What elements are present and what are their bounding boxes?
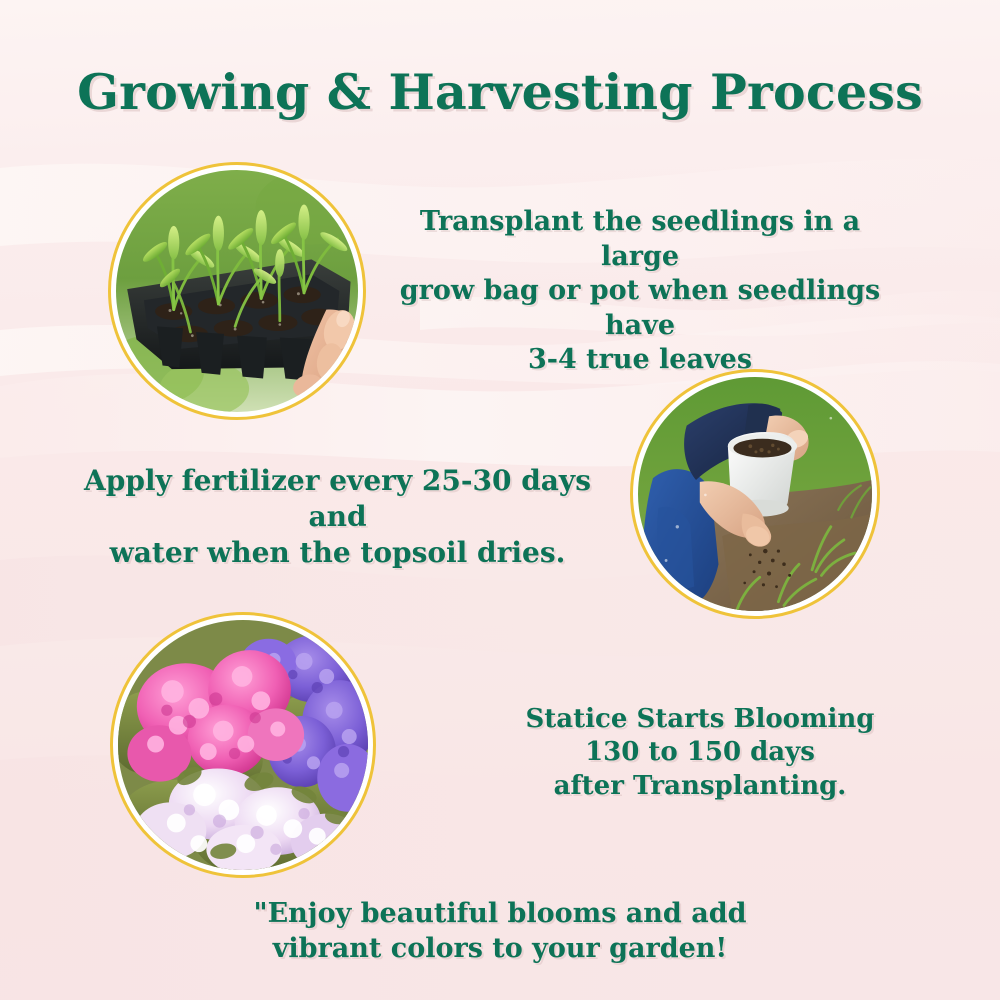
step-3-line-2: 130 to 150 days: [475, 736, 925, 769]
step-3-line-1: Statice Starts Blooming: [475, 703, 925, 736]
fertilizer-spreading-photo: [638, 377, 872, 611]
step-1-caption: Transplant the seedlings in a large grow…: [380, 205, 900, 378]
statice-flowers-photo: [118, 620, 368, 870]
step-1-line-2: grow bag or pot when seedlings have: [380, 274, 900, 343]
closing-message: "Enjoy beautiful blooms and add vibrant …: [215, 897, 785, 966]
step-1-image-seedling-tray: [108, 162, 366, 420]
infographic-poster: Growing & Harvesting Process: [0, 0, 1000, 1000]
step-2-line-2: water when the topsoil dries.: [55, 535, 620, 571]
step-3-line-3: after Transplanting.: [475, 770, 925, 803]
step-1-line-1: Transplant the seedlings in a large: [380, 205, 900, 274]
step-3-image-statice-flowers: [110, 612, 376, 878]
step-2-image-fertilizing: [630, 369, 880, 619]
closing-line-1: "Enjoy beautiful blooms and add: [215, 897, 785, 932]
step-2-caption: Apply fertilizer every 25-30 days and wa…: [55, 463, 620, 570]
seedling-tray-photo: [116, 170, 358, 412]
step-3-caption: Statice Starts Blooming 130 to 150 days …: [475, 703, 925, 803]
poster-title: Growing & Harvesting Process: [0, 66, 1000, 120]
step-1-line-3: 3-4 true leaves: [380, 343, 900, 378]
step-2-line-1: Apply fertilizer every 25-30 days and: [55, 463, 620, 535]
closing-line-2: vibrant colors to your garden!: [215, 932, 785, 967]
